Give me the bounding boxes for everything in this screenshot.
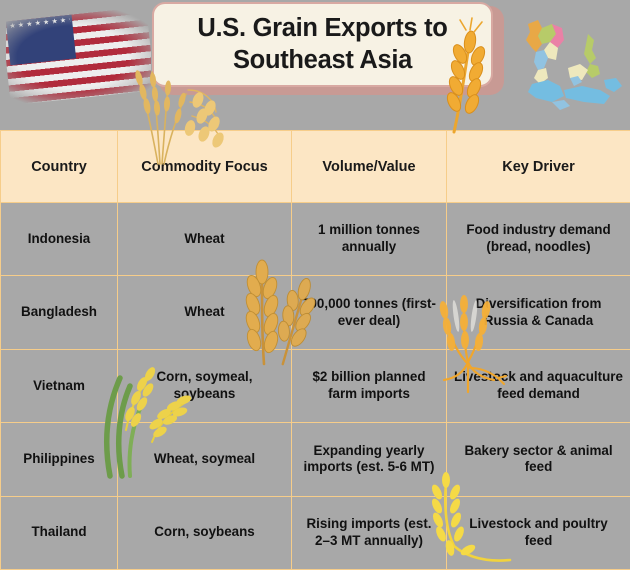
column-header-driver: Key Driver: [447, 131, 630, 203]
cell-driver: Bakery sector & animal feed: [447, 423, 630, 496]
cell-commodity: Wheat: [118, 276, 292, 349]
table-row: Philippines Wheat, soymeal Expanding yea…: [1, 423, 630, 496]
cell-country: Bangladesh: [1, 276, 118, 349]
table-row: Thailand Corn, soybeans Rising imports (…: [1, 496, 630, 569]
flag-stars: ★★★★★★★★★★★★★★★★★★★★★★★★★★★★★★★★★★★★★★★★…: [8, 17, 74, 63]
grain-exports-table: Country Commodity Focus Volume/Value Key…: [0, 130, 630, 570]
cell-country: Thailand: [1, 496, 118, 569]
table-body: Indonesia Wheat 1 million tonnes annuall…: [1, 203, 630, 570]
cell-country: Philippines: [1, 423, 118, 496]
cell-commodity: Corn, soymeal, soybeans: [118, 349, 292, 422]
cell-volume: Rising imports (est. 2–3 MT annually): [292, 496, 447, 569]
table-row: Bangladesh Wheat 700,000 tonnes (first-e…: [1, 276, 630, 349]
title-panel: U.S. Grain Exports to Southeast Asia: [152, 2, 493, 87]
cell-driver: Livestock and poultry feed: [447, 496, 630, 569]
cell-commodity: Wheat: [118, 203, 292, 276]
table-row: Indonesia Wheat 1 million tonnes annuall…: [1, 203, 630, 276]
cell-country: Vietnam: [1, 349, 118, 422]
cell-volume: $2 billion planned farm imports: [292, 349, 447, 422]
cell-driver: Food industry demand (bread, noodles): [447, 203, 630, 276]
cell-country: Indonesia: [1, 203, 118, 276]
grain-exports-infographic: ★★★★★★★★★★★★★★★★★★★★★★★★★★★★★★★★★★★★★★★★…: [0, 0, 630, 570]
us-flag-icon: ★★★★★★★★★★★★★★★★★★★★★★★★★★★★★★★★★★★★★★★★…: [6, 8, 151, 106]
cell-commodity: Corn, soybeans: [118, 496, 292, 569]
column-header-commodity: Commodity Focus: [118, 131, 292, 203]
cell-driver: Diversification from Russia & Canada: [447, 276, 630, 349]
cell-driver: Livestock and aquaculture feed demand: [447, 349, 630, 422]
cell-volume: Expanding yearly imports (est. 5-6 MT): [292, 423, 447, 496]
page-title-line-2: Southeast Asia: [233, 46, 412, 74]
cell-volume: 700,000 tonnes (first-ever deal): [292, 276, 447, 349]
cell-commodity: Wheat, soymeal: [118, 423, 292, 496]
column-header-country: Country: [1, 131, 118, 203]
southeast-asia-map-icon: [508, 6, 626, 124]
page-title-line-1: U.S. Grain Exports to: [197, 14, 447, 42]
table-header: Country Commodity Focus Volume/Value Key…: [1, 131, 630, 203]
cell-volume: 1 million tonnes annually: [292, 203, 447, 276]
table-row: Vietnam Corn, soymeal, soybeans $2 billi…: [1, 349, 630, 422]
table-header-row: Country Commodity Focus Volume/Value Key…: [1, 131, 630, 203]
page-title: U.S. Grain Exports to Southeast Asia: [187, 13, 457, 75]
header-banner: ★★★★★★★★★★★★★★★★★★★★★★★★★★★★★★★★★★★★★★★★…: [0, 0, 630, 130]
column-header-volume: Volume/Value: [292, 131, 447, 203]
